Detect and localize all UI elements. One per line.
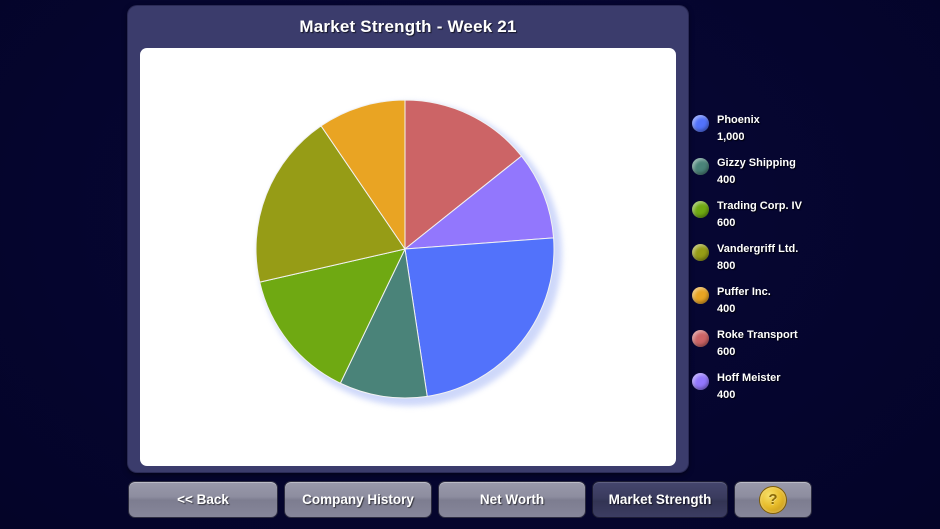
legend-label: Roke Transport (717, 328, 798, 342)
legend-value: 800 (717, 259, 798, 273)
list-item[interactable]: Puffer Inc. 400 (692, 284, 872, 318)
legend-label: Puffer Inc. (717, 285, 771, 299)
legend-value: 1,000 (717, 130, 760, 144)
bottom-button-bar: << Back Company History Net Worth Market… (128, 481, 812, 518)
page-title: Market Strength - Week 21 (299, 17, 516, 37)
legend-color-swatch-hoff-meister (692, 373, 709, 390)
pie-slice[interactable] (405, 238, 554, 396)
market-strength-panel: Market Strength - Week 21 (128, 6, 688, 472)
back-button[interactable]: << Back (128, 481, 278, 518)
legend-color-swatch-puffer-inc (692, 287, 709, 304)
list-item[interactable]: Trading Corp. IV 600 (692, 198, 872, 232)
legend-label: Phoenix (717, 113, 760, 127)
panel-titlebar: Market Strength - Week 21 (134, 12, 682, 42)
legend-label: Vandergriff Ltd. (717, 242, 798, 256)
legend-value: 400 (717, 173, 796, 187)
pie-slices (255, 99, 555, 399)
legend-color-swatch-phoenix (692, 115, 709, 132)
legend-value: 600 (717, 216, 802, 230)
legend-color-swatch-vandergriff-ltd (692, 244, 709, 261)
chart-legend: Phoenix 1,000 Gizzy Shipping 400 Trading… (692, 112, 872, 413)
list-item[interactable]: Hoff Meister 400 (692, 370, 872, 404)
net-worth-button[interactable]: Net Worth (438, 481, 586, 518)
legend-label: Gizzy Shipping (717, 156, 796, 170)
help-button[interactable]: ? (734, 481, 812, 518)
legend-value: 400 (717, 302, 771, 316)
coin-question-icon: ? (759, 486, 787, 514)
legend-value: 400 (717, 388, 781, 402)
pie-chart (140, 48, 676, 466)
chart-area (140, 48, 676, 466)
company-history-button[interactable]: Company History (284, 481, 432, 518)
legend-color-swatch-gizzy-shipping (692, 158, 709, 175)
list-item[interactable]: Gizzy Shipping 400 (692, 155, 872, 189)
legend-color-swatch-trading-corp-iv (692, 201, 709, 218)
list-item[interactable]: Vandergriff Ltd. 800 (692, 241, 872, 275)
legend-label: Hoff Meister (717, 371, 781, 385)
legend-label: Trading Corp. IV (717, 199, 802, 213)
list-item[interactable]: Roke Transport 600 (692, 327, 872, 361)
market-strength-button[interactable]: Market Strength (592, 481, 728, 518)
game-screen: Market Strength - Week 21 Phoenix 1,000 … (0, 0, 940, 529)
legend-value: 600 (717, 345, 798, 359)
list-item[interactable]: Phoenix 1,000 (692, 112, 872, 146)
legend-color-swatch-roke-transport (692, 330, 709, 347)
pie-svg (255, 99, 555, 399)
